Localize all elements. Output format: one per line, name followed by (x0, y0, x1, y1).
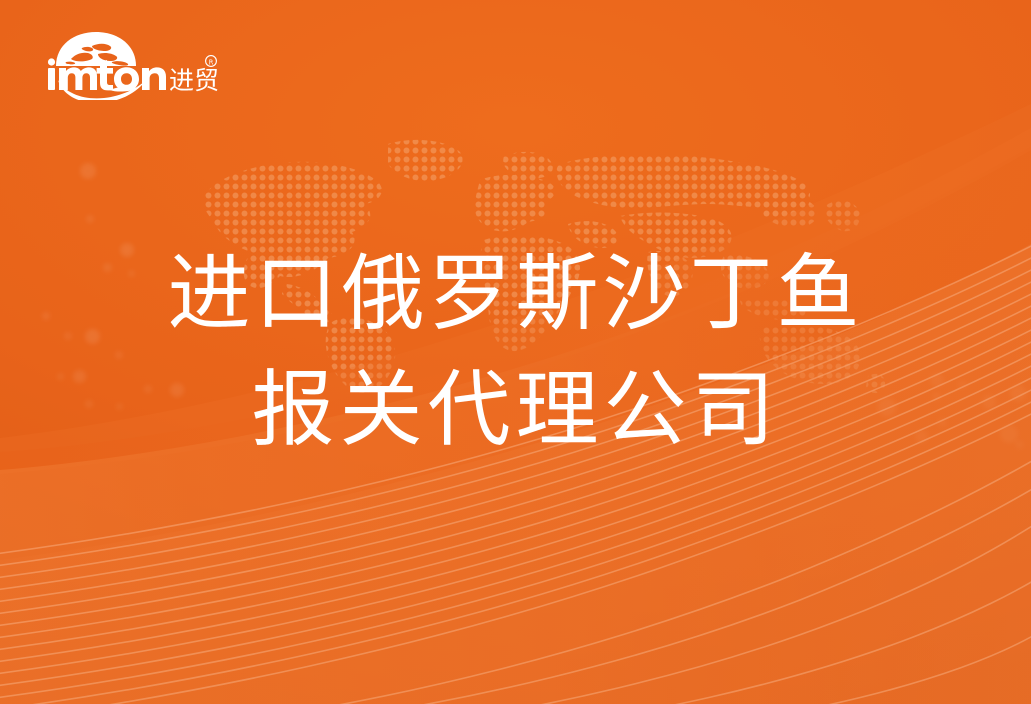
brand-logo[interactable]: 进贸通 R (42, 28, 218, 100)
logo-wordmark-chinese: 进贸通 (169, 66, 218, 95)
trademark-icon: R (206, 56, 217, 67)
globe-arc-icon (56, 32, 136, 66)
marketing-banner: 进贸通 R 进口俄罗斯沙丁鱼 报关代理公司 (0, 0, 1031, 704)
background-gradient (0, 0, 1031, 704)
svg-text:R: R (209, 58, 214, 66)
